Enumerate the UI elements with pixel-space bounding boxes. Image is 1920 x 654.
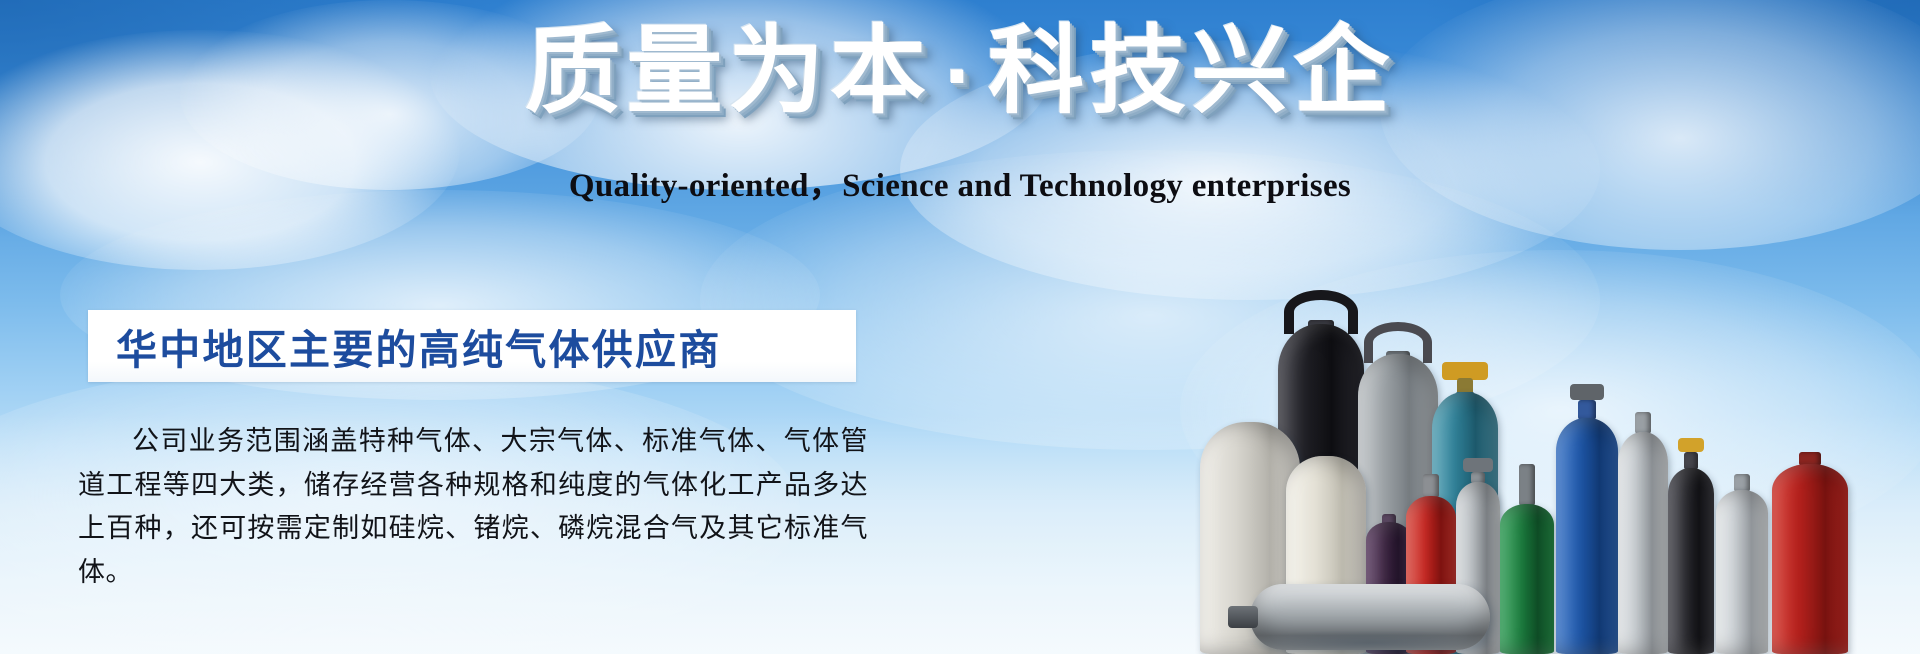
gas-cylinder-group-photo xyxy=(1200,234,1920,654)
banner-subheadline: Quality-oriented，Science and Technology … xyxy=(0,158,1920,206)
promo-banner: 质量为本·科技兴企 Quality-oriented，Science and T… xyxy=(0,0,1920,654)
cylinder-aluminum-short xyxy=(1716,490,1768,654)
banner-headline: 质量为本·科技兴企 xyxy=(0,18,1920,126)
cylinder-blue-tall xyxy=(1556,418,1618,654)
cylinder-black-slim xyxy=(1668,468,1714,654)
cylinder-aluminum-tall xyxy=(1618,432,1668,654)
cylinder-green-short xyxy=(1500,504,1554,654)
cylinder-red-wide xyxy=(1772,464,1848,654)
headline-part-left: 质量为本 xyxy=(525,15,932,127)
banner-description: 公司业务范围涵盖特种气体、大宗气体、标准气体、气体管道工程等四大类，储存经营各种… xyxy=(78,420,868,595)
cylinder-lying-gray xyxy=(1228,584,1490,650)
headline-part-right: 科技兴企 xyxy=(988,15,1395,127)
tagline-text: 华中地区主要的高纯气体供应商 xyxy=(88,316,722,376)
tagline-box: 华中地区主要的高纯气体供应商 xyxy=(88,310,856,382)
headline-separator-dot: · xyxy=(932,36,988,118)
